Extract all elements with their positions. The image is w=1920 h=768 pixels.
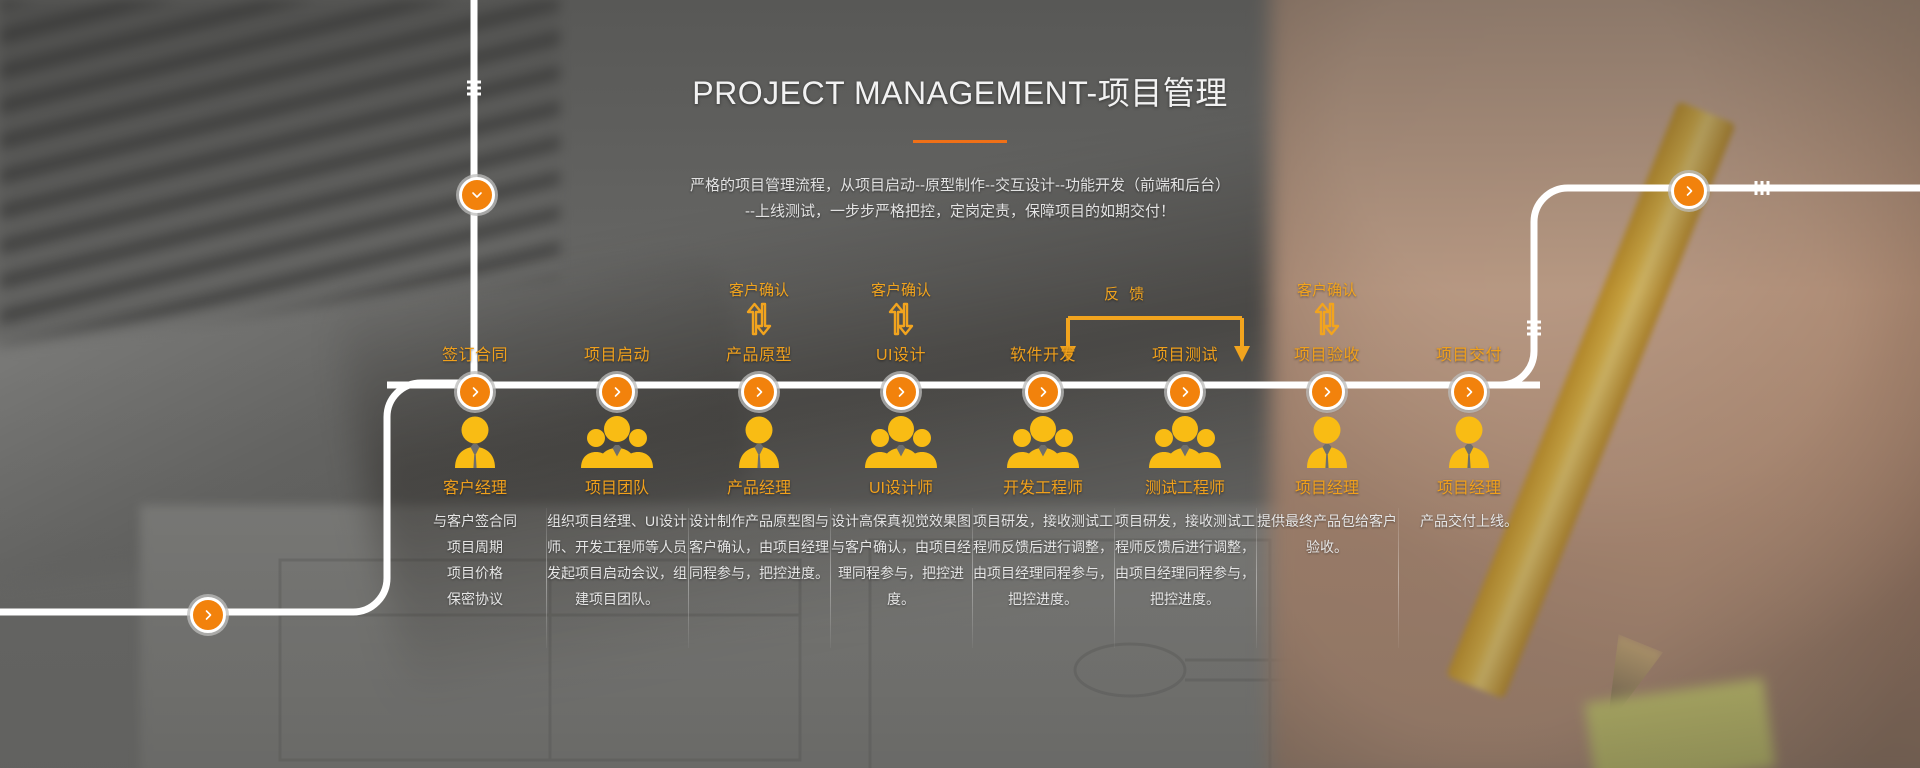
step-role-icon (1402, 416, 1536, 472)
group-person-icon (864, 416, 938, 472)
two-way-arrow-icon (885, 302, 917, 336)
step-role-icon (976, 416, 1110, 472)
chevron-right-icon (895, 386, 907, 398)
column-separator (972, 508, 973, 648)
step-role-icon (408, 416, 542, 472)
single-person-icon (449, 416, 501, 472)
step-description: 产品交付上线。 (1393, 508, 1545, 534)
chevron-right-icon (1179, 386, 1191, 398)
header-description: 严格的项目管理流程，从项目启动--原型制作--交互设计--功能开发（前端和后台）… (0, 173, 1920, 225)
path-badge-bottom-left[interactable] (190, 597, 226, 633)
chevron-right-icon (611, 386, 623, 398)
column-separator (1398, 508, 1399, 648)
step-description: 提供最终产品包给客户验收。 (1251, 508, 1403, 560)
group-person-icon (1006, 416, 1080, 472)
step-confirm-block: 客户确认 (834, 282, 968, 336)
step-description: 组织项目经理、UI设计师、开发工程师等人员发起项目启动会议，组建项目团队。 (541, 508, 693, 612)
step-role-icon (1260, 416, 1394, 472)
page-title: PROJECT MANAGEMENT-项目管理 (0, 68, 1920, 114)
step-node-button[interactable] (457, 374, 493, 410)
step-confirm-label: 客户确认 (1260, 282, 1394, 300)
step-role-icon (692, 416, 826, 472)
step-role-icon (550, 416, 684, 472)
step-description: 设计高保真视觉效果图与客户确认，由项目经理同程参与，把控进度。 (825, 508, 977, 612)
step-node-button[interactable] (1025, 374, 1061, 410)
header-description-line-1: 严格的项目管理流程，从项目启动--原型制作--交互设计--功能开发（前端和后台） (0, 173, 1920, 199)
step-description: 项目研发，接收测试工程师反馈后进行调整，由项目经理同程参与，把控进度。 (967, 508, 1119, 612)
chevron-right-icon (1321, 386, 1333, 398)
step-confirm-label: 客户确认 (692, 282, 826, 300)
page-root: PROJECT MANAGEMENT-项目管理 严格的项目管理流程，从项目启动-… (0, 0, 1920, 768)
column-separator (546, 508, 547, 648)
step-node-button[interactable] (599, 374, 635, 410)
step-description: 与客户签合同项目周期项目价格保密协议 (399, 508, 551, 612)
chevron-right-icon (753, 386, 765, 398)
column-separator (1114, 508, 1115, 648)
two-way-arrow-icon (1311, 302, 1343, 336)
single-person-icon (1443, 416, 1495, 472)
header-description-line-2: --上线测试，一步步严格把控，定岗定责，保障项目的如期交付！ (0, 199, 1920, 225)
group-person-icon (580, 416, 654, 472)
step-confirm-block: 客户确认 (1260, 282, 1394, 336)
step-node-button[interactable] (1167, 374, 1203, 410)
step-confirm-label: 客户确认 (834, 282, 968, 300)
single-person-icon (1301, 416, 1353, 472)
header: PROJECT MANAGEMENT-项目管理 严格的项目管理流程，从项目启动-… (0, 0, 1920, 225)
chevron-right-icon (202, 609, 214, 621)
step-role-name: 项目经理 (1384, 474, 1554, 498)
step-role-icon (834, 416, 968, 472)
column-separator (830, 508, 831, 648)
step-description: 设计制作产品原型图与客户确认，由项目经理同程参与，把控进度。 (683, 508, 835, 586)
step-role-icon (1118, 416, 1252, 472)
chevron-right-icon (1037, 386, 1049, 398)
step-node-button[interactable] (741, 374, 777, 410)
column-separator (1256, 508, 1257, 648)
step-node-button[interactable] (883, 374, 919, 410)
feedback-label: 反 馈 (1104, 283, 1147, 304)
group-person-icon (1148, 416, 1222, 472)
chevron-right-icon (469, 386, 481, 398)
step-label: 项目交付 (1384, 341, 1554, 365)
chevron-right-icon (1463, 386, 1475, 398)
step-node-button[interactable] (1309, 374, 1345, 410)
two-way-arrow-icon (743, 302, 775, 336)
step-description: 项目研发，接收测试工程师反馈后进行调整，由项目经理同程参与，把控进度。 (1109, 508, 1261, 612)
column-separator (688, 508, 689, 648)
step-confirm-block: 客户确认 (692, 282, 826, 336)
step-node-button[interactable] (1451, 374, 1487, 410)
single-person-icon (733, 416, 785, 472)
title-underline (913, 140, 1007, 143)
